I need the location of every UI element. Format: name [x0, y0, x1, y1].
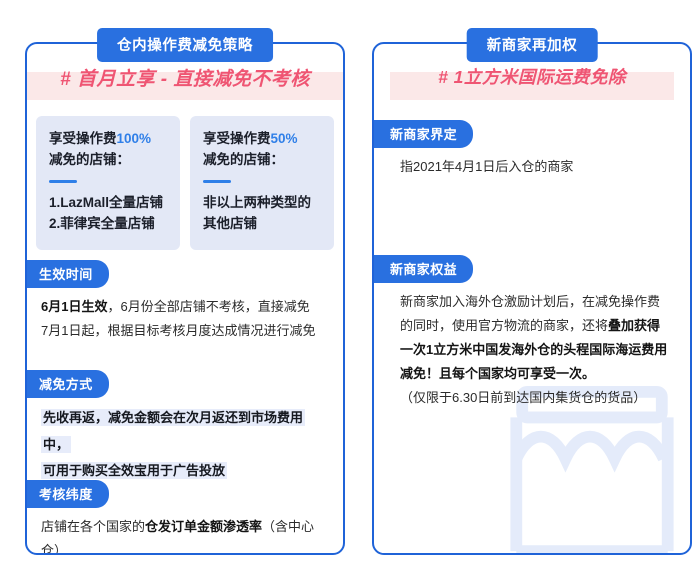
feature-box-100-divider: [49, 180, 77, 183]
effective-time-bold: 6月1日生效: [41, 299, 107, 314]
effective-time-line-2: 7月1日起，根据目标考核月度达成情况进行减免: [41, 319, 329, 343]
section-body-assessment-dimension: 店铺在各个国家的仓发订单金额渗透率（含中心仓）: [27, 508, 343, 553]
right-headline: # 1立方米国际运费免除: [374, 64, 690, 89]
section-tab-refund-method: 减免方式: [27, 370, 109, 398]
section-tab-assessment-dimension: 考核纬度: [27, 480, 109, 508]
left-feature-boxes: 享受操作费100% 减免的店铺： 1.LazMall全量店铺 2.菲律宾全量店铺…: [36, 116, 334, 250]
section-body-new-seller-definition: 指2021年4月1日后入仓的商家: [374, 148, 690, 179]
section-effective-time: 生效时间 6月1日生效，6月份全部店铺不考核，直接减免 7月1日起，根据目标考核…: [27, 260, 343, 343]
section-body-new-seller-benefit: 新商家加入海外仓激励计划后，在减免操作费的同时，使用官方物流的商家，还将叠加获得…: [374, 283, 690, 410]
assessment-bold: 仓发订单金额渗透率: [145, 519, 262, 534]
section-body-refund-method: 先收再返，减免金额会在次月返还到市场费用中， 可用于购买全效宝用于广告投放: [27, 398, 343, 485]
feature-box-50-percent: 50%: [271, 131, 298, 146]
refund-method-highlight-2: 可用于购买全效宝用于广告投放: [41, 462, 227, 479]
new-seller-definition-text: 指2021年4月1日后入仓的商家: [400, 155, 676, 179]
right-card-title-badge: 新商家再加权: [467, 28, 598, 62]
feature-box-50-prefix: 享受操作费: [203, 131, 271, 146]
section-refund-method: 减免方式 先收再返，减免金额会在次月返还到市场费用中， 可用于购买全效宝用于广告…: [27, 370, 343, 485]
list-item: 其他店铺: [203, 213, 321, 235]
effective-time-rest: ，6月份全部店铺不考核，直接减免: [107, 299, 309, 314]
list-item: 非以上两种类型的: [203, 192, 321, 214]
feature-box-50-heading: 享受操作费50% 减免的店铺：: [203, 129, 321, 171]
feature-box-100-suffix: 减免的店铺：: [49, 152, 130, 167]
refund-method-line-1: 先收再返，减免金额会在次月返还到市场费用中，: [41, 405, 329, 458]
section-assessment-dimension: 考核纬度 店铺在各个国家的仓发订单金额渗透率（含中心仓）: [27, 480, 343, 553]
assessment-prefix: 店铺在各个国家的: [41, 519, 145, 534]
benefit-note: （仅限于6.30日前到达国内集货仓的货品）: [400, 386, 668, 410]
right-card-content: # 1立方米国际运费免除 新商家界定 指2021年4月1日后入仓的商家 新商家权…: [374, 44, 690, 553]
feature-box-50: 享受操作费50% 减免的店铺： 非以上两种类型的 其他店铺: [190, 116, 334, 250]
section-tab-new-seller-benefit: 新商家权益: [374, 255, 473, 283]
feature-box-100-heading: 享受操作费100% 减免的店铺：: [49, 129, 167, 171]
effective-time-line-1: 6月1日生效，6月份全部店铺不考核，直接减免: [41, 295, 329, 319]
section-tab-new-seller-definition: 新商家界定: [374, 120, 473, 148]
section-new-seller-benefit: 新商家权益 新商家加入海外仓激励计划后，在减免操作费的同时，使用官方物流的商家，…: [374, 255, 690, 410]
feature-box-100-prefix: 享受操作费: [49, 131, 117, 146]
feature-box-50-divider: [203, 180, 231, 183]
refund-method-highlight-1: 先收再返，减免金额会在次月返还到市场费用中，: [41, 409, 305, 453]
section-body-effective-time: 6月1日生效，6月份全部店铺不考核，直接减免 7月1日起，根据目标考核月度达成情…: [27, 288, 343, 343]
list-item: 1.LazMall全量店铺: [49, 192, 167, 214]
feature-box-100: 享受操作费100% 减免的店铺： 1.LazMall全量店铺 2.菲律宾全量店铺: [36, 116, 180, 250]
section-tab-effective-time: 生效时间: [27, 260, 109, 288]
right-policy-card: 新商家再加权 # 1立方米国际运费免除 新商家界定: [372, 42, 692, 555]
left-headline: # 首月立享 - 直接减免不考核: [27, 64, 343, 91]
feature-box-100-items: 1.LazMall全量店铺 2.菲律宾全量店铺: [49, 192, 167, 235]
feature-box-50-suffix: 减免的店铺：: [203, 152, 284, 167]
left-policy-card: 仓内操作费减免策略 # 首月立享 - 直接减免不考核 享受操作费100% 减免的…: [25, 42, 345, 555]
left-card-title-badge: 仓内操作费减免策略: [97, 28, 273, 62]
section-new-seller-definition: 新商家界定 指2021年4月1日后入仓的商家: [374, 120, 690, 179]
list-item: 2.菲律宾全量店铺: [49, 213, 167, 235]
feature-box-50-items: 非以上两种类型的 其他店铺: [203, 192, 321, 235]
left-card-content: # 首月立享 - 直接减免不考核 享受操作费100% 减免的店铺： 1.LazM…: [27, 44, 343, 553]
assessment-line-1: 店铺在各个国家的仓发订单金额渗透率（含中心仓）: [41, 515, 329, 553]
infographic-canvas: 仓内操作费减免策略 # 首月立享 - 直接减免不考核 享受操作费100% 减免的…: [0, 0, 700, 581]
feature-box-100-percent: 100%: [117, 131, 152, 146]
